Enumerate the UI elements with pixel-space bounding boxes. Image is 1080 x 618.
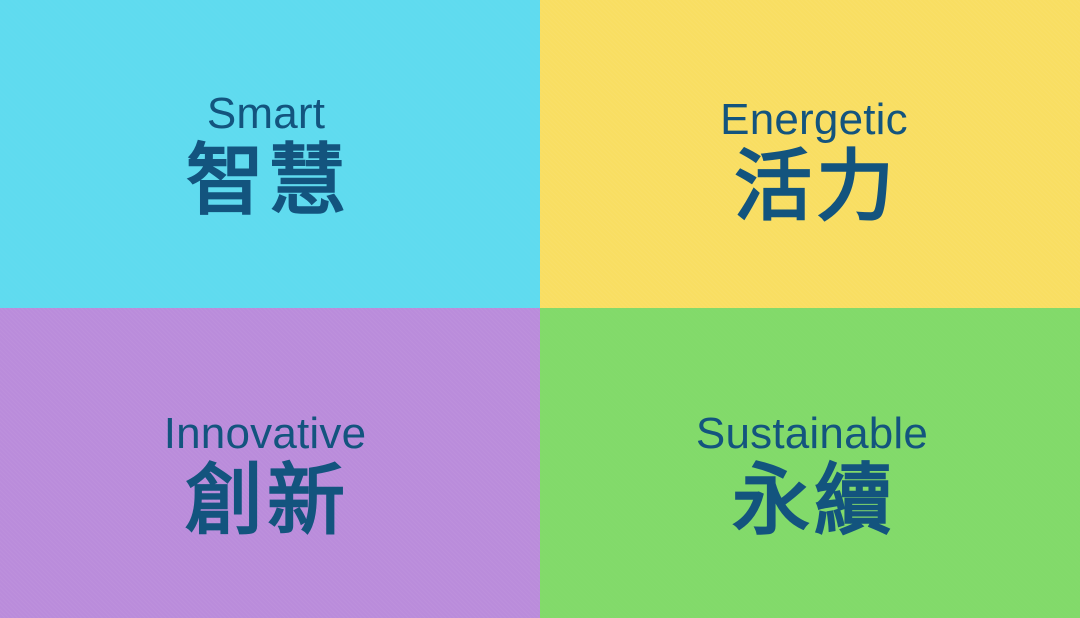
- label-chinese-smart: 智慧: [182, 142, 350, 220]
- label-english-innovative: Innovative: [164, 412, 367, 456]
- label-chinese-energetic: 活力: [730, 148, 898, 226]
- label-stack-smart: Smart 智慧: [182, 92, 350, 220]
- label-english-sustainable: Sustainable: [696, 412, 928, 456]
- label-stack-innovative: Innovative 創新: [164, 412, 367, 540]
- quadrant-energetic: Energetic 活力: [540, 0, 1080, 308]
- quadrant-sustainable: Sustainable 永續: [540, 308, 1080, 618]
- label-stack-sustainable: Sustainable 永續: [696, 412, 928, 540]
- label-english-energetic: Energetic: [720, 98, 908, 142]
- label-chinese-innovative: 創新: [181, 462, 349, 540]
- brand-values-grid: Smart 智慧 Energetic 活力 Innovative 創新 Sust…: [0, 0, 1080, 618]
- label-english-smart: Smart: [207, 92, 325, 136]
- quadrant-innovative: Innovative 創新: [0, 308, 540, 618]
- quadrant-smart: Smart 智慧: [0, 0, 540, 308]
- label-stack-energetic: Energetic 活力: [720, 98, 908, 226]
- label-chinese-sustainable: 永續: [728, 462, 896, 540]
